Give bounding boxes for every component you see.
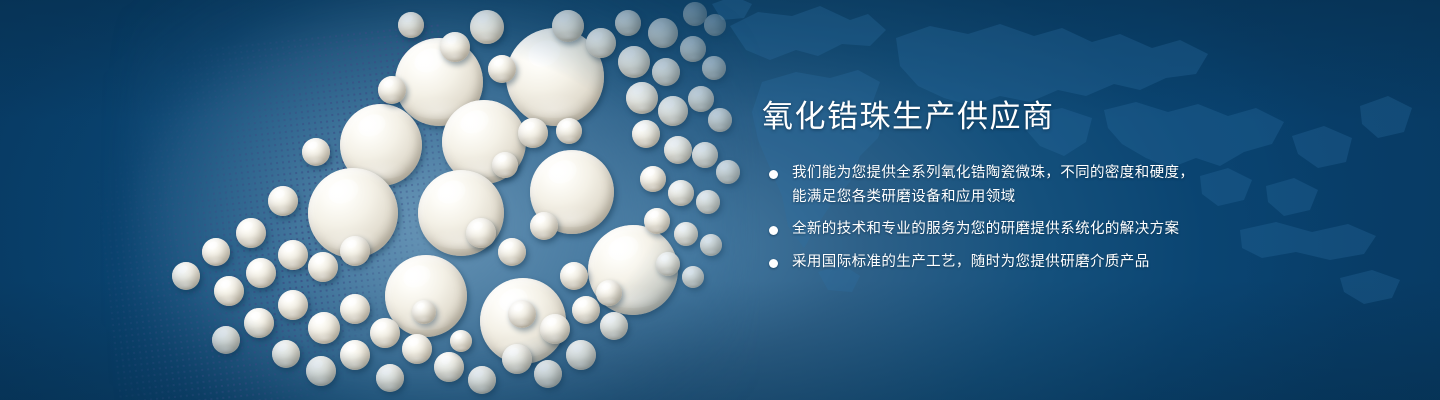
bullet-dot-icon (769, 226, 778, 235)
bullet-text-line: 采用国际标准的生产工艺，随时为您提供研磨介质产品 (792, 251, 1322, 274)
bullet-item: 我们能为您提供全系列氧化锆陶瓷微珠，不同的密度和硬度，能满足您各类研磨设备和应用… (762, 162, 1322, 209)
bullet-text-line: 我们能为您提供全系列氧化锆陶瓷微珠，不同的密度和硬度， (792, 162, 1322, 185)
bullet-text-line: 全新的技术和专业的服务为您的研磨提供系统化的解决方案 (792, 218, 1322, 241)
hero-banner: 氧化锆珠生产供应商 我们能为您提供全系列氧化锆陶瓷微珠，不同的密度和硬度，能满足… (0, 0, 1440, 400)
banner-content: 氧化锆珠生产供应商 我们能为您提供全系列氧化锆陶瓷微珠，不同的密度和硬度，能满足… (762, 100, 1322, 274)
banner-headline: 氧化锆珠生产供应商 (762, 100, 1322, 134)
bullet-text-line: 能满足您各类研磨设备和应用领域 (792, 186, 1322, 209)
bullet-item: 采用国际标准的生产工艺，随时为您提供研磨介质产品 (762, 251, 1322, 274)
banner-bullet-list: 我们能为您提供全系列氧化锆陶瓷微珠，不同的密度和硬度，能满足您各类研磨设备和应用… (762, 162, 1322, 274)
bullet-dot-icon (769, 259, 778, 268)
bullet-dot-icon (769, 170, 778, 179)
bullet-item: 全新的技术和专业的服务为您的研磨提供系统化的解决方案 (762, 218, 1322, 241)
